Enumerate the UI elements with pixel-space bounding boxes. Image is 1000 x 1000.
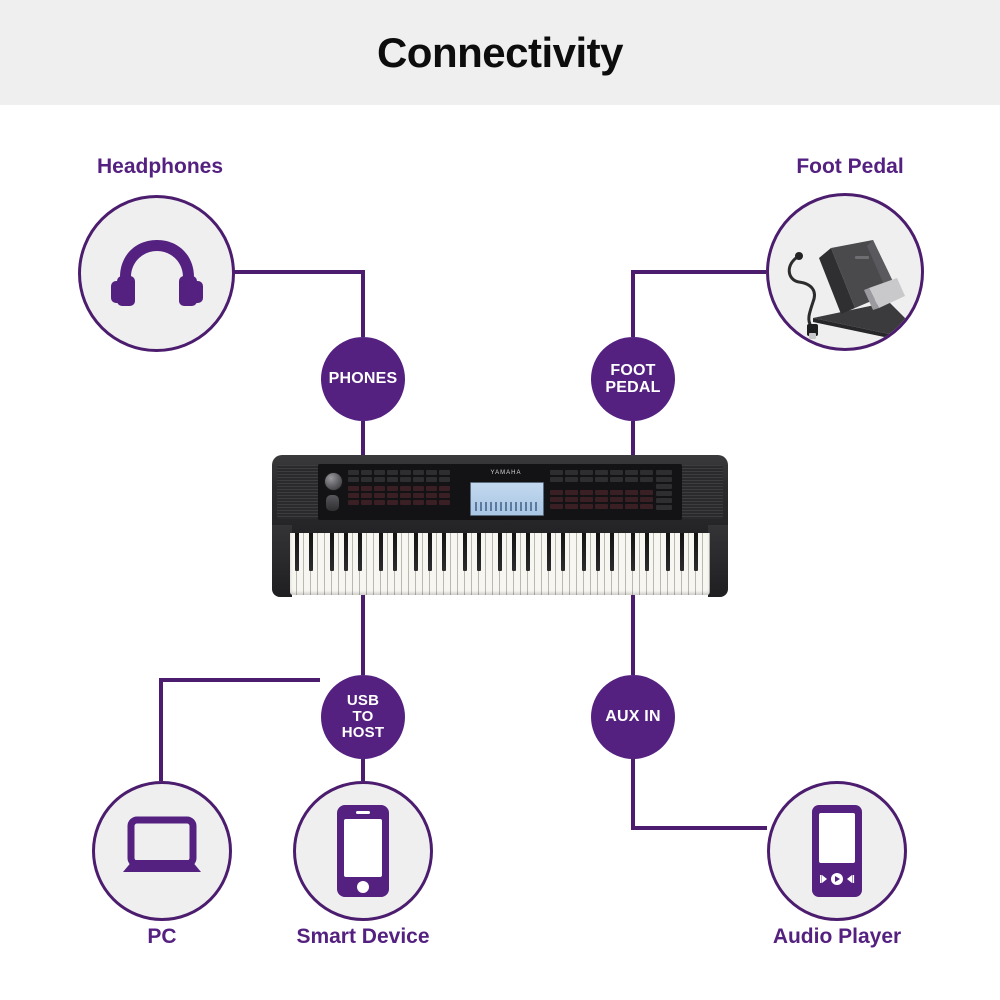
keyboard-black-keys[interactable] (290, 533, 710, 571)
port-usb-line3: HOST (342, 724, 384, 741)
port-usb-line1: USB (347, 692, 379, 709)
audio-player-icon (808, 803, 866, 899)
port-phones-label: PHONES (329, 370, 398, 387)
keyboard-body: YAMAHA (272, 455, 728, 533)
line-footpedal-to-port (633, 272, 766, 337)
keyboard-control-panel: YAMAHA (318, 464, 682, 520)
port-foot-pedal-line2: PEDAL (605, 379, 660, 396)
port-usb-line2: TO (353, 708, 374, 725)
port-foot-pedal-line1: FOOT (610, 362, 655, 379)
headphones-label: Headphones (60, 155, 260, 179)
page-title: Connectivity (377, 29, 623, 77)
headphones-circle[interactable] (78, 195, 235, 352)
brand-logo: YAMAHA (478, 470, 534, 477)
smart-device-circle[interactable] (293, 781, 433, 921)
line-headphones-to-phones (234, 272, 363, 337)
smartphone-icon (333, 803, 393, 899)
headphones-icon (109, 234, 205, 314)
foot-pedal-photo (769, 196, 921, 348)
audio-player-label: Audio Player (737, 925, 937, 949)
foot-pedal-label: Foot Pedal (740, 155, 960, 179)
port-usb-to-host-label: USB TO HOST (342, 693, 384, 742)
line-usb-to-pc (161, 680, 320, 781)
volume-knob-icon[interactable] (324, 472, 343, 491)
port-usb-to-host[interactable]: USB TO HOST (321, 675, 405, 759)
button-row-top-left[interactable] (348, 470, 450, 482)
port-foot-pedal[interactable]: FOOT PEDAL (591, 337, 675, 421)
button-row-bottom-right[interactable] (550, 490, 653, 509)
port-foot-pedal-label: FOOT PEDAL (605, 362, 660, 397)
button-row-top-right[interactable] (550, 470, 653, 482)
port-phones[interactable]: PHONES (321, 337, 405, 421)
port-aux-in[interactable]: AUX IN (591, 675, 675, 759)
keyboard-side-left (272, 525, 292, 597)
connectivity-diagram: Headphones Foot Pedal (0, 105, 1000, 1000)
pitch-wheel-icon[interactable] (326, 495, 339, 511)
smart-device-label: Smart Device (263, 925, 463, 949)
port-aux-in-label: AUX IN (605, 708, 660, 725)
foot-pedal-circle[interactable] (766, 193, 924, 351)
keyboard-speaker-left (277, 465, 319, 519)
page-header: Connectivity (0, 0, 1000, 105)
pc-label: PC (92, 925, 232, 949)
audio-player-circle[interactable] (767, 781, 907, 921)
lcd-screen (470, 482, 544, 516)
button-row-mid-left[interactable] (348, 486, 450, 505)
keyboard-side-right (708, 525, 728, 597)
laptop-icon (119, 816, 205, 886)
button-column-far-right[interactable] (656, 470, 672, 510)
digital-keyboard[interactable]: YAMAHA (272, 455, 728, 600)
keyboard-speaker-right (681, 465, 723, 519)
pc-circle[interactable] (92, 781, 232, 921)
